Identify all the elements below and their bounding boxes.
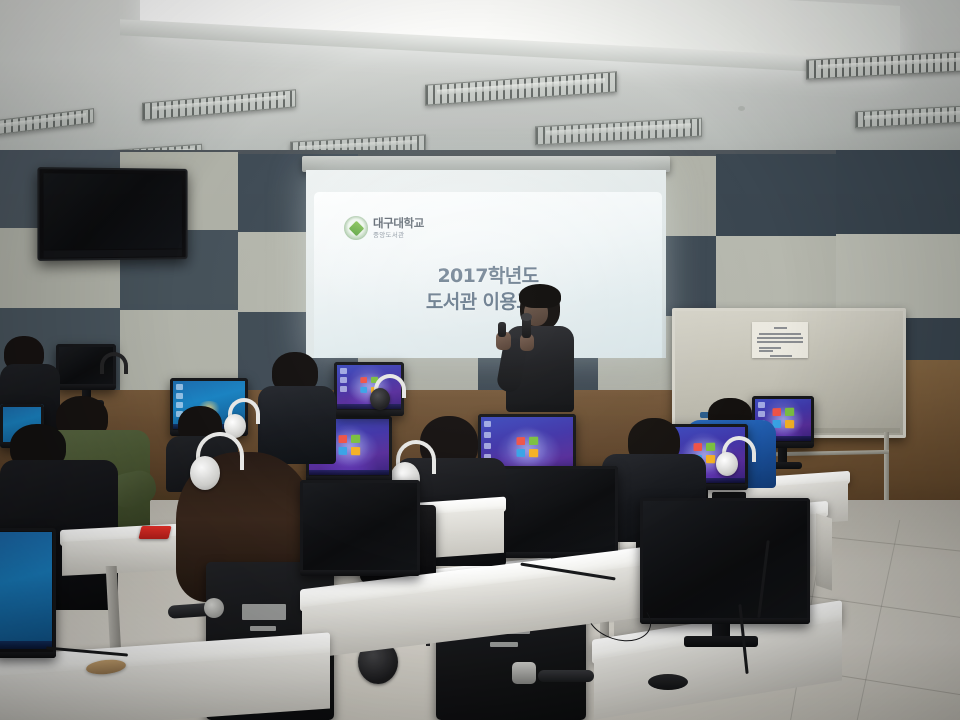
screen-glow [306, 170, 666, 358]
wall-panel [716, 236, 836, 318]
monitor[interactable] [0, 528, 56, 658]
tv-chin [44, 249, 182, 257]
student-center-rear [258, 352, 336, 464]
chair-arm-pivot [204, 598, 224, 618]
monitor[interactable] [498, 466, 618, 558]
desk-grommet [648, 674, 688, 690]
classroom-photo: 대구대학교 중앙도서관 2017학년도 도서관 이용교육 [0, 0, 960, 720]
whiteboard-leg [884, 432, 889, 510]
microphone-head [521, 313, 532, 321]
headphones-earcup[interactable] [716, 452, 738, 476]
monitor[interactable] [300, 480, 420, 576]
monitor[interactable] [640, 498, 810, 624]
monitor-base [684, 636, 758, 647]
presenter [498, 286, 578, 412]
headphones-earcup[interactable] [190, 456, 220, 490]
whiteboard-notice-paper [752, 322, 808, 358]
presenter-hair [519, 284, 561, 308]
wall-mounted-tv[interactable] [37, 167, 187, 261]
red-phone-case[interactable] [138, 526, 171, 539]
wall-panel [836, 150, 960, 234]
wall-panel [716, 154, 836, 236]
chair-armrest [538, 670, 594, 682]
wall-panel [836, 234, 960, 318]
headphones-band [100, 352, 128, 374]
headphones-earcup[interactable] [370, 388, 390, 410]
chair-arm-pivot [512, 662, 536, 684]
presentation-clicker[interactable] [498, 322, 506, 337]
desk-side-panel [816, 513, 832, 590]
tv-screen [44, 173, 182, 249]
